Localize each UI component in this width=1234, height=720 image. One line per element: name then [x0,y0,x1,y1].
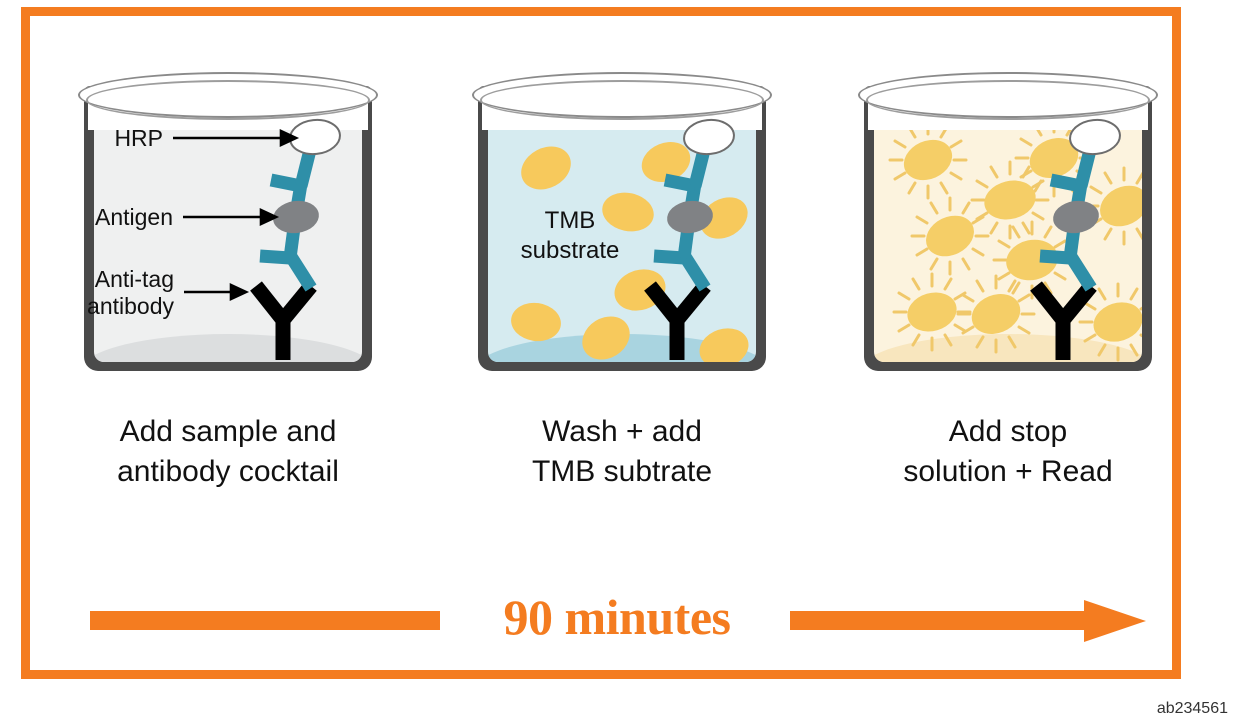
step-1-caption-line1: Add sample and [58,412,398,452]
step-1-caption-line2: antibody cocktail [58,452,398,492]
step-2-caption: Wash + add TMB subtrate [452,412,792,491]
step-1-column: HRP Antigen Anti-tag antibody Add sample… [58,60,398,510]
anti-tag-label-line1: Anti-tag [95,266,174,292]
anti-tag-antibody [1036,286,1091,360]
step-2-caption-line1: Wash + add [452,412,792,452]
well-3-contents [848,60,1168,380]
microplate-well-2: TMB substrate [462,60,782,380]
well-1-contents: HRP Antigen Anti-tag antibody [68,60,388,380]
watermark-code: ab234561 [1157,700,1228,718]
timeline-duration-label: 90 minutes [452,588,782,646]
step-3-caption-line1: Add stop [838,412,1178,452]
microplate-well-3 [848,60,1168,380]
microplate-well-1: HRP Antigen Anti-tag antibody [68,60,388,380]
timeline-bar-left [90,611,440,630]
step-2-caption-line2: TMB subtrate [452,452,792,492]
duration-timeline: 90 minutes [0,588,1234,668]
hrp-oval [682,117,735,156]
tmb-substrate-label-line2: substrate [521,237,620,264]
timeline-arrow-icon [1084,600,1146,642]
wells-row: HRP Antigen Anti-tag antibody Add sample… [0,0,1234,520]
hrp-oval [1068,117,1121,156]
step-2-column: TMB substrate Wash + add TMB subtrate [452,60,792,510]
step-1-caption: Add sample and antibody cocktail [58,412,398,491]
antigen-oval [1051,198,1101,236]
antigen-oval [665,198,715,236]
anti-tag-antibody [650,286,705,360]
step-3-column: Add stop solution + Read [838,60,1178,510]
antigen-label: Antigen [95,204,173,230]
anti-tag-arrowhead [231,285,246,299]
timeline-bar-right [790,611,1090,630]
hrp-label: HRP [114,125,163,151]
step-3-caption-line2: solution + Read [838,452,1178,492]
anti-tag-label-line2: antibody [87,293,174,319]
step-3-caption: Add stop solution + Read [838,412,1178,491]
anti-tag-antibody [256,286,311,360]
well-2-contents: TMB substrate [462,60,782,380]
tmb-substrate-label-line1: TMB [545,207,596,234]
figure-canvas: HRP Antigen Anti-tag antibody Add sample… [0,0,1234,720]
